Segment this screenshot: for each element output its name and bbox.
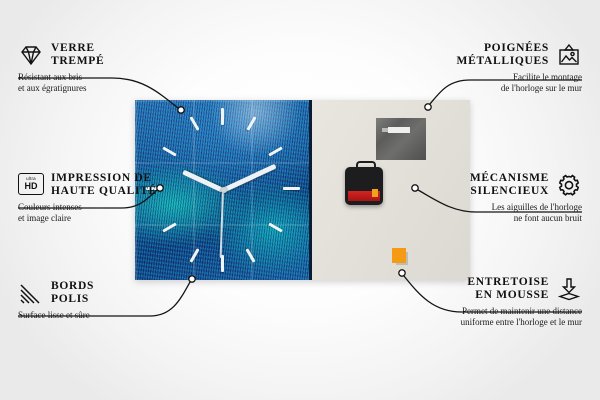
callout-header: ENTRETOISEEN MOUSSE xyxy=(412,276,582,302)
callout-entretoise-en-mousse: ENTRETOISEEN MOUSSE Permet de maintenir … xyxy=(412,276,582,328)
callout-header: VERRETREMPÉ xyxy=(18,42,168,68)
callout-header: POIGNÉESMÉTALLIQUES xyxy=(432,42,582,68)
ultra-hd-icon: ultra HD xyxy=(18,173,44,197)
callout-bords-polis: BORDSPOLIS Surface lisse et sûre xyxy=(18,280,168,321)
callout-verre-trempe: VERRETREMPÉ Résistant aux briset aux égr… xyxy=(18,42,168,94)
callout-desc: Les aiguilles de l'horlogene font aucun … xyxy=(422,202,582,224)
infographic-canvas: VERRETREMPÉ Résistant aux briset aux égr… xyxy=(0,0,600,400)
hd-label: HD xyxy=(25,182,38,192)
callout-desc: Couleurs intenseset image claire xyxy=(18,202,188,224)
connector-endpoint xyxy=(399,270,405,276)
callout-header: MÉCANISMESILENCIEUX xyxy=(422,172,582,198)
callout-title: POIGNÉESMÉTALLIQUES xyxy=(457,42,549,68)
polished-edges-icon xyxy=(18,281,44,305)
callout-poignees-metalliques: POIGNÉESMÉTALLIQUES Facilite le montaged… xyxy=(432,42,582,94)
foam-spacer-icon xyxy=(556,277,582,301)
callout-title: BORDSPOLIS xyxy=(51,280,94,306)
callout-desc: Résistant aux briset aux égratignures xyxy=(18,72,168,94)
callout-mecanisme-silencieux: MÉCANISMESILENCIEUX Les aiguilles de l'h… xyxy=(422,172,582,224)
callout-desc: Surface lisse et sûre xyxy=(18,310,168,321)
callout-desc: Facilite le montagede l'horloge sur le m… xyxy=(432,72,582,94)
callout-title: MÉCANISMESILENCIEUX xyxy=(470,172,549,198)
callout-impression-haute-qualite: ultra HD IMPRESSION DEHAUTE QUALITÉ Coul… xyxy=(18,172,188,224)
callout-header: BORDSPOLIS xyxy=(18,280,168,306)
gear-icon xyxy=(556,173,582,197)
callout-title: ENTRETOISEEN MOUSSE xyxy=(467,276,549,302)
callout-title: IMPRESSION DEHAUTE QUALITÉ xyxy=(51,172,157,198)
connector-endpoint xyxy=(178,107,184,113)
wall-frame-icon xyxy=(556,43,582,67)
callout-header: ultra HD IMPRESSION DEHAUTE QUALITÉ xyxy=(18,172,188,198)
diamond-icon xyxy=(18,43,44,67)
connector-endpoint xyxy=(189,276,195,282)
callout-title: VERRETREMPÉ xyxy=(51,42,104,68)
connector-endpoint xyxy=(425,104,431,110)
callout-desc: Permet de maintenir une distanceuniforme… xyxy=(412,306,582,328)
connector-endpoint xyxy=(412,185,418,191)
